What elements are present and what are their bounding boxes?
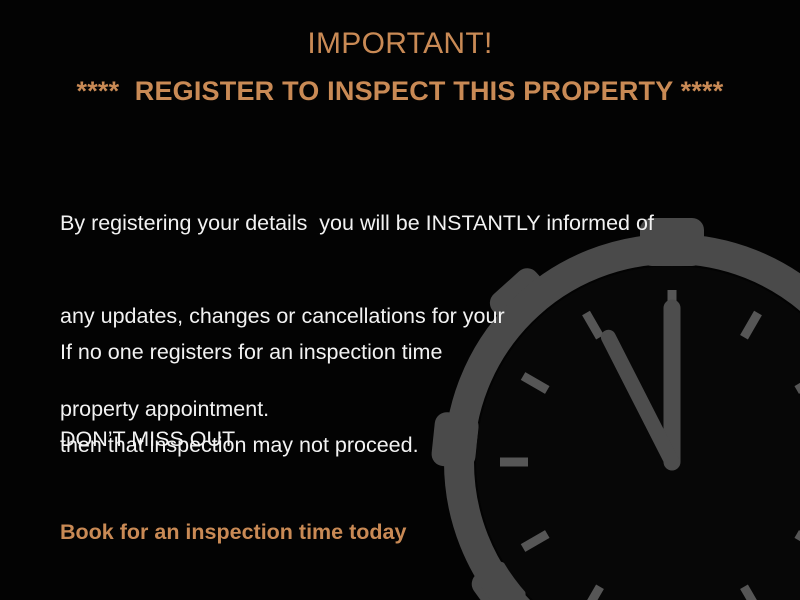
dont-miss-out-line: DON’T MISS OUT [60,424,406,455]
headline-register: **** REGISTER TO INSPECT THIS PROPERTY *… [0,74,800,108]
paragraph-call-to-action: DON’T MISS OUT Book for an inspection ti… [60,362,406,600]
book-inspection-line: Book for an inspection time today [60,517,406,548]
paragraph-1-line-1: By registering your details you will be … [60,208,654,239]
promotional-slide: IMPORTANT! **** REGISTER TO INSPECT THIS… [0,0,800,600]
headline-important: IMPORTANT! [0,26,800,62]
text-layer: IMPORTANT! **** REGISTER TO INSPECT THIS… [0,0,800,600]
